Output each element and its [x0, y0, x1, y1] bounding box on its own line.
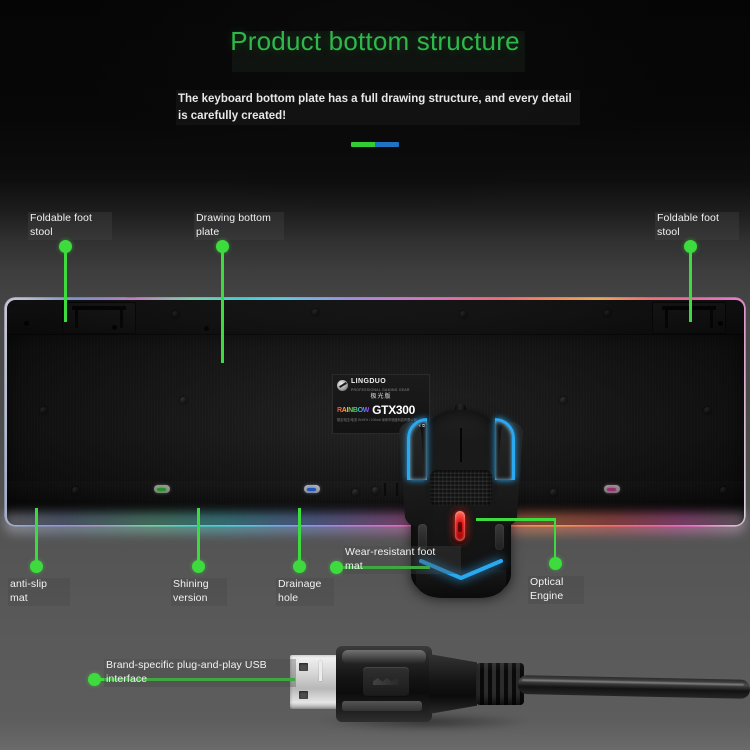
callout-label-shining-version: Shining version: [171, 578, 227, 606]
keyboard-screw: [372, 487, 379, 494]
keyboard-screw: [550, 489, 557, 496]
keyboard-screw: [720, 487, 727, 494]
usb-drop-shadow: [320, 713, 530, 731]
keyboard-screw: [72, 487, 79, 494]
page-title: Product bottom structure: [0, 26, 750, 57]
sticker-model-row: RAINBOW GTX300: [337, 404, 425, 416]
callout-label-foldable-foot-stool-right: Foldable foot stool: [655, 212, 739, 240]
keyboard-screw: [180, 397, 187, 404]
sticker-certification-marks: FC C€ ⧉: [337, 423, 425, 428]
usb-cable-highlight: [522, 679, 744, 686]
product-sticker-label: LINGDUO PROFESSIONAL GAMING GEAR 极光版 RAI…: [332, 374, 430, 434]
anti-slip-mat-part: [154, 485, 170, 493]
keyboard-vent-hole: [112, 325, 117, 330]
keyboard-screw: [312, 309, 319, 316]
usb-tongue: [319, 661, 322, 681]
drainage-hole-indicator: [304, 485, 320, 493]
usb-logo-emboss: [363, 667, 409, 697]
callout-line-drainage-hole: [298, 508, 300, 563]
section-divider: [351, 142, 399, 147]
keyboard-vent-hole: [204, 326, 209, 331]
sticker-fine-print: 额定电压/电流 5V±5% / 100mA 深圳市领度科技有限公司: [337, 418, 425, 422]
callout-label-drawing-bottom-plate: Drawing bottom plate: [194, 212, 284, 240]
sticker-brand-sub: PROFESSIONAL GAMING GEAR: [351, 388, 410, 392]
callout-dot-anti-slip-mat: [30, 560, 43, 573]
usb-plastic-shell: [336, 646, 432, 722]
usb-cable-rings: [476, 663, 524, 705]
usb-shell-highlight: [342, 650, 426, 664]
callout-label-foldable-foot-stool-left: Foldable foot stool: [28, 212, 112, 240]
page-subtitle: The keyboard bottom plate has a full dra…: [176, 90, 580, 125]
keyboard-vent-hole: [718, 321, 723, 326]
keyboard-screw: [460, 311, 467, 318]
callout-dot-drainage-hole: [293, 560, 306, 573]
sticker-brand-row: LINGDUO PROFESSIONAL GAMING GEAR: [337, 378, 425, 392]
callout-dot-shining-version: [192, 560, 205, 573]
divider-segment-green: [351, 142, 375, 147]
wear-resistant-foot-mat-right: [495, 524, 504, 550]
shining-version-pad: [604, 485, 620, 493]
callout-line-shining-version: [197, 508, 199, 563]
usb-metal-housing: [290, 655, 340, 709]
keyboard-screw: [604, 310, 611, 317]
keyboard-screw: [560, 397, 567, 404]
usb-contact-slot: [299, 691, 308, 699]
callout-line-drawing-bottom-plate: [221, 250, 223, 363]
callout-line-anti-slip-mat: [35, 508, 37, 563]
callout-label-optical-engine: Optical Engine: [528, 576, 584, 604]
mouse-skirt: [416, 570, 506, 598]
usb-contact-slot: [299, 663, 308, 671]
callout-label-usb-interface: Brand-specific plug-and-play USB interfa…: [104, 659, 296, 687]
callout-label-drainage-hole: Drainage hole: [276, 578, 334, 606]
brand-logo-icon: [337, 380, 348, 391]
callout-line-optical-engine-horizontal: [476, 518, 556, 520]
callout-dot-optical-engine: [549, 557, 562, 570]
keyboard-rim-highlight: [4, 297, 746, 299]
callout-line-optical-engine-vertical: [554, 518, 556, 559]
sticker-rainbow-word: RAINBOW: [337, 407, 369, 416]
keyboard-screw: [172, 311, 179, 318]
divider-segment-blue: [375, 142, 399, 147]
sticker-brand: LINGDUO: [351, 378, 386, 385]
drainage-slot: [384, 483, 386, 496]
keyboard-vent-hole: [24, 321, 29, 326]
drainage-slot: [396, 483, 398, 496]
usb-connector: [290, 643, 750, 735]
foldable-foot-stool-left-part: [62, 302, 136, 334]
callout-label-anti-slip-mat: anti-slip mat: [8, 578, 70, 606]
sticker-chinese-line: 极光版: [337, 394, 425, 402]
callout-line-foldable-foot-stool-left: [64, 250, 66, 322]
product-infographic-page: Product bottom structure The keyboard bo…: [0, 0, 750, 750]
drainage-hole-part: [352, 489, 359, 496]
usb-cable: [518, 675, 750, 699]
callout-label-wear-resistant-foot-mat: Wear-resistant foot mat: [343, 546, 461, 574]
usb-shell-band: [342, 701, 422, 711]
keyboard-screw: [704, 407, 711, 414]
callout-line-foldable-foot-stool-right: [689, 250, 691, 322]
sticker-model: GTX300: [372, 404, 415, 416]
foot-stool-bar: [72, 306, 126, 310]
usb-strain-relief: [429, 654, 477, 714]
keyboard-screw: [40, 407, 47, 414]
